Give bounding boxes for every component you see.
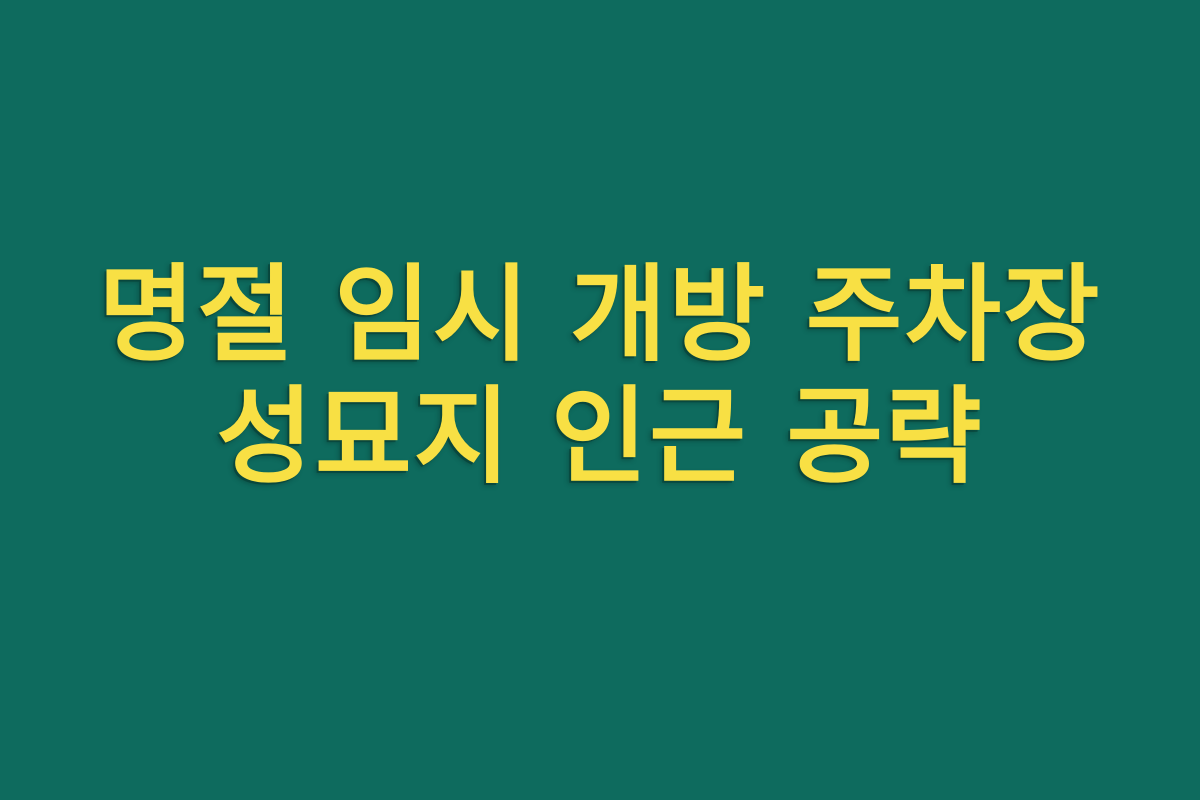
banner-root: 명절 임시 개방 주차장 성묘지 인근 공략 xyxy=(0,0,1200,800)
title-line-1: 명절 임시 개방 주차장 xyxy=(0,254,1200,376)
title-block: 명절 임시 개방 주차장 성묘지 인근 공략 xyxy=(0,254,1200,498)
title-line-2: 성묘지 인근 공략 xyxy=(0,376,1200,498)
